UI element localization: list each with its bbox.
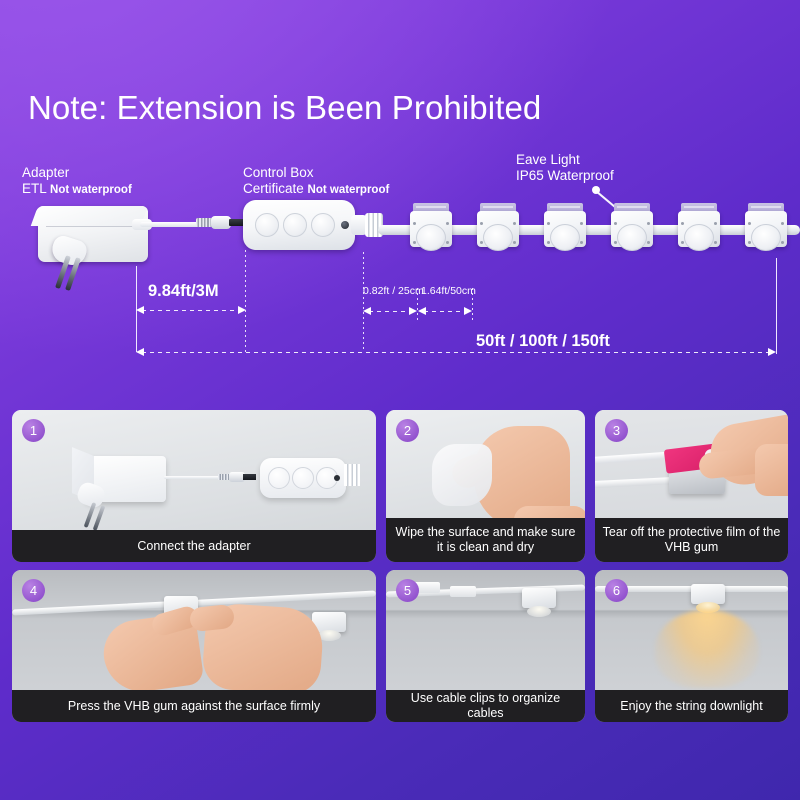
page-title: Note: Extension is Been Prohibited [28,88,541,128]
callout-eave-light-sub: IP65 Waterproof [516,168,614,184]
screw-icon [580,241,583,244]
step-panel-6[interactable]: 6 Enjoy the string downlight [595,570,788,722]
screw-icon [681,241,684,244]
control-box-button [311,213,335,237]
arrow-right-icon [768,348,776,356]
control-box-button [255,213,279,237]
cable-clip [450,586,476,597]
control-box-led-icon [341,221,349,229]
screw-icon [413,222,416,225]
adapter-device [30,198,148,262]
dim-bar [424,311,466,312]
dim-label-first-gap: 0.82ft / 25cm [363,285,424,297]
control-box-button [292,467,314,489]
eave-light-lens [684,224,714,251]
barrel-connector [196,216,244,229]
screw-icon [714,241,717,244]
step-panel-3[interactable]: 3 Tear off the protective film of the VH… [595,410,788,562]
screw-icon [781,241,784,244]
eave-light-module [745,203,787,247]
dim-label-light-spacing: 1.64ft/50cm [421,285,476,297]
screw-icon [748,241,751,244]
dim-bar [369,311,411,312]
step-badge-3: 3 [605,419,628,442]
eave-light-lens [751,224,781,251]
adapter-cable [140,222,202,227]
eave-light-lens [416,224,446,251]
control-box-button [283,213,307,237]
screw-icon [513,241,516,244]
callout-eave-light-title: Eave Light [516,152,614,168]
step-caption-6: Enjoy the string downlight [595,690,788,722]
eave-light-module [691,584,725,604]
screw-icon [547,241,550,244]
screw-icon [681,222,684,225]
connector-sleeve [211,216,231,229]
screw-icon [446,222,449,225]
callout-adapter: Adapter ETL Not waterproof [22,165,132,198]
eave-light-lens [483,224,513,251]
connector-tip [243,474,256,480]
dim-extension-line [363,252,364,352]
arrow-right-icon [409,307,417,315]
dim-row-adapter-cord [136,306,246,315]
step-panel-1[interactable]: 1 Connect the adapter [12,410,376,562]
screw-icon [614,241,617,244]
eave-light-module [477,203,519,247]
step-badge-6: 6 [605,579,628,602]
eave-light-housing [745,211,787,247]
screw-icon [614,222,617,225]
screw-icon [446,241,449,244]
callout-control-box-sub: Certificate Not waterproof [243,181,389,198]
eave-light-module [544,203,586,247]
screw-icon [513,222,516,225]
control-box-device [243,200,361,250]
step-badge-1: 1 [22,419,45,442]
callout-adapter-title: Adapter [22,165,132,181]
adapter-bevel [31,206,148,226]
step-badge-5: 5 [396,579,419,602]
connector-tip [229,219,244,226]
callout-control-box-title: Control Box [243,165,389,181]
dim-extension-line [245,250,246,352]
adapter-cable [164,476,222,479]
eave-light-module [410,203,452,247]
screw-icon [580,222,583,225]
control-box-cable-gland [344,464,360,486]
cloth-wipe [432,444,492,506]
step-caption-3: Tear off the protective film of the VHB … [595,518,788,562]
eave-light-lens [550,224,580,251]
step-caption-4: Press the VHB gum against the surface fi… [12,690,376,722]
hand-wrist [755,444,788,496]
screw-icon [547,222,550,225]
eave-light-lens [527,606,551,617]
step-panel-2[interactable]: 2 Wipe the surface and make sure it is c… [386,410,585,562]
screw-icon [714,222,717,225]
dim-label-adapter-cord: 9.84ft/3M [148,282,219,301]
dim-row-total-length [136,348,776,357]
dim-extension-line [776,258,777,354]
eave-light-housing [678,211,720,247]
eave-light-housing [611,211,653,247]
product-instruction-graphic: Note: Extension is Been Prohibited Adapt… [0,0,800,800]
step-panel-5[interactable]: 5 Use cable clips to organize cables [386,570,585,722]
light-glow [655,610,759,688]
dim-row-light-spacing [418,307,472,316]
screw-icon [781,222,784,225]
dim-bar [142,310,240,311]
eave-light-housing [544,211,586,247]
eave-light-module [678,203,720,247]
adapter-seam [46,226,144,227]
step-caption-1: Connect the adapter [12,530,376,562]
barrel-connector [218,472,256,482]
steps-grid: 1 Connect the adapter 2 Wipe the surface… [12,410,788,728]
arrow-right-icon [238,306,246,314]
eave-light-housing [477,211,519,247]
callout-eave-light: Eave Light IP65 Waterproof [516,152,614,184]
step-caption-5: Use cable clips to organize cables [386,690,585,722]
arrow-right-icon [464,307,472,315]
eave-light-module [611,203,653,247]
step-badge-4: 4 [22,579,45,602]
screw-icon [748,222,751,225]
dim-bar [142,352,770,353]
step-badge-2: 2 [396,419,419,442]
screw-icon [480,241,483,244]
screw-icon [480,222,483,225]
eave-light-module [522,588,556,608]
eave-light-lens [617,224,647,251]
step-panel-4[interactable]: 4 Press the VHB gum against the surface … [12,570,376,722]
screw-icon [413,241,416,244]
control-box-led-icon [334,475,340,481]
eave-light-housing [410,211,452,247]
control-box-photo [260,458,346,498]
control-box-button [268,467,290,489]
dim-row-first-gap [363,307,417,316]
callout-adapter-sub: ETL Not waterproof [22,181,132,198]
callout-control-box: Control Box Certificate Not waterproof [243,165,389,198]
step-caption-2: Wipe the surface and make sure it is cle… [386,518,585,562]
screw-icon [647,241,650,244]
screw-icon [647,222,650,225]
